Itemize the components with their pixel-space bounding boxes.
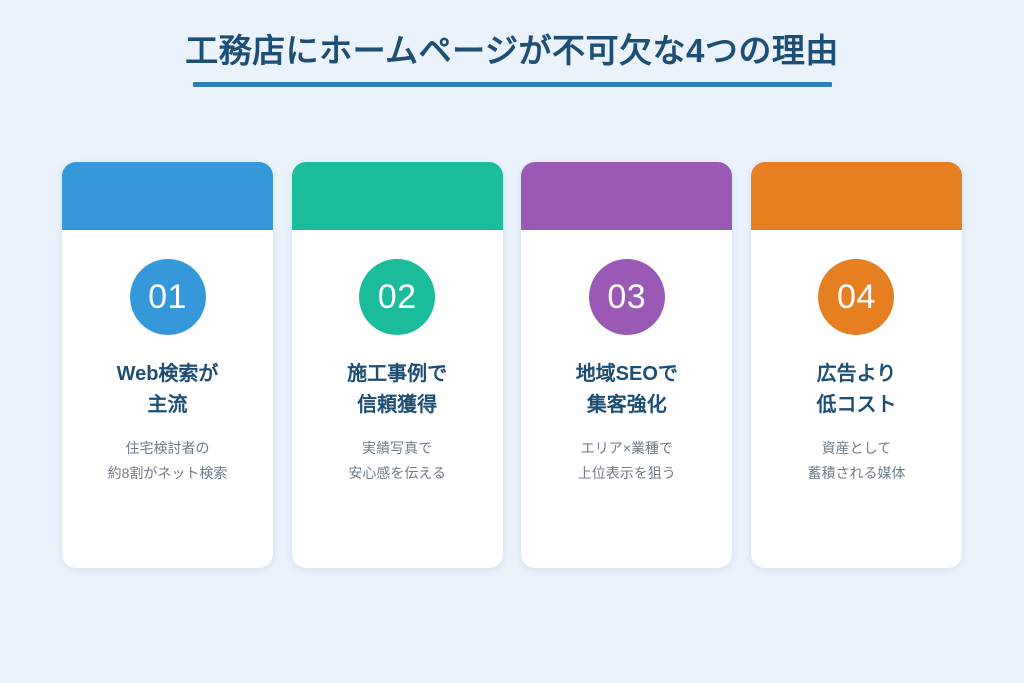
reason-card-02[interactable]: 02 施工事例で 信頼獲得 実績写真で 安心感を伝える xyxy=(292,162,503,568)
card-header-accent-01 xyxy=(62,162,273,230)
card-header-accent-04 xyxy=(751,162,962,230)
title-block: 工務店にホームページが不可欠な4つの理由 xyxy=(0,30,1024,87)
card-header-accent-02 xyxy=(292,162,503,230)
card-description-02: 実績写真で 安心感を伝える xyxy=(342,436,452,485)
slide-root: 工務店にホームページが不可欠な4つの理由 01 Web検索が 主流 住宅検討者の… xyxy=(0,0,1024,683)
reason-card-01[interactable]: 01 Web検索が 主流 住宅検討者の 約8割がネット検索 xyxy=(62,162,273,568)
card-title-01: Web検索が 主流 xyxy=(109,359,227,421)
card-header-accent-03 xyxy=(521,162,732,230)
reason-card-04[interactable]: 04 広告より 低コスト 資産として 蓄積される媒体 xyxy=(751,162,962,568)
card-title-02: 施工事例で 信頼獲得 xyxy=(339,359,455,421)
card-number-badge-01: 01 xyxy=(130,259,206,335)
title-underline xyxy=(193,82,832,87)
card-number-badge-03: 03 xyxy=(589,259,665,335)
card-number-badge-02: 02 xyxy=(359,259,435,335)
cards-row: 01 Web検索が 主流 住宅検討者の 約8割がネット検索 02 施工事例で 信… xyxy=(62,162,962,568)
card-title-04: 広告より 低コスト xyxy=(808,359,904,421)
card-title-03: 地域SEOで 集客強化 xyxy=(568,359,686,421)
page-title: 工務店にホームページが不可欠な4つの理由 xyxy=(185,30,839,71)
reason-card-03[interactable]: 03 地域SEOで 集客強化 エリア×業種で 上位表示を狙う xyxy=(521,162,732,568)
card-description-01: 住宅検討者の 約8割がネット検索 xyxy=(102,436,234,485)
card-number-badge-04: 04 xyxy=(818,259,894,335)
card-description-04: 資産として 蓄積される媒体 xyxy=(801,436,911,485)
card-description-03: エリア×業種で 上位表示を狙う xyxy=(572,436,682,485)
